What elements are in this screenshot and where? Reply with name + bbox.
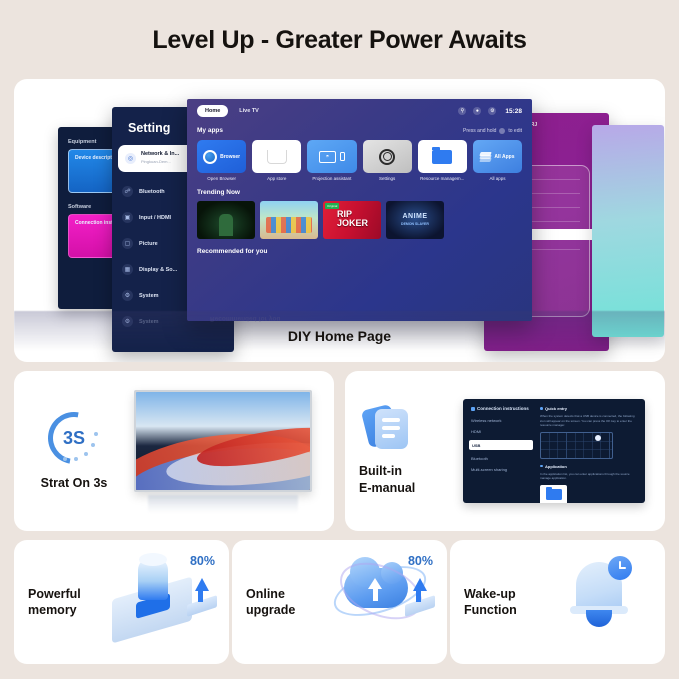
tv-home-screen: Home Live TV ⚲ ● ⚙ 15:28 My apps Press a… xyxy=(187,99,532,321)
tab-live-tv[interactable]: Live TV xyxy=(239,108,259,114)
recommended-title: Recommended for you xyxy=(187,239,532,255)
app-open-browser[interactable]: Browser Open Browser xyxy=(197,140,246,181)
usb-indicator-icon xyxy=(595,435,601,441)
input-icon: ▣ xyxy=(122,212,133,223)
banner-title: ANIME xyxy=(386,213,444,220)
device-stage: Equipment Device description Software Co… xyxy=(14,79,665,311)
my-apps-header: My apps Press and hold to edit xyxy=(187,123,532,134)
app-label: Open Browser xyxy=(197,176,246,181)
screen-cast-icon: ◓ xyxy=(319,151,336,163)
powerful-memory-card: Powerful memory 80% xyxy=(14,540,229,664)
app-resource-management[interactable]: Resource managem... xyxy=(418,140,467,181)
upgrade-illustration: 80% xyxy=(324,540,447,664)
manual-grid-illustration xyxy=(540,432,613,459)
product-feature-page: Level Up - Greater Power Awaits Equipmen… xyxy=(0,0,679,679)
wake-up-function-card: Wake-up Function xyxy=(450,540,665,664)
phone-icon xyxy=(340,152,345,161)
stack-icon xyxy=(480,152,491,162)
banner-subtitle: DEMON SLAYER xyxy=(386,222,444,226)
app-label: Resource managem... xyxy=(418,176,467,181)
browser-tile-text: Browser xyxy=(220,154,240,160)
display-icon: ▦ xyxy=(122,264,133,275)
edit-hint: Press and hold to edit xyxy=(463,128,522,134)
trending-thumb[interactable] xyxy=(197,201,255,239)
tv-reflection xyxy=(148,495,298,513)
folder-icon xyxy=(540,485,567,504)
app-grid: Browser Open Browser App store ◓ xyxy=(187,134,532,181)
manual-menu-item[interactable]: Bluetooth xyxy=(471,456,533,461)
manual-title: Connection instructions xyxy=(471,406,533,411)
app-all-apps[interactable]: All Apps All apps xyxy=(473,140,522,181)
trending-title: Trending Now xyxy=(197,189,522,196)
built-in-emanual-card: Built-in E-manual Connection instruction… xyxy=(345,371,665,531)
app-projection-assistant[interactable]: ◓ Projection assistant xyxy=(307,140,356,181)
manual-section-body: When the system detects that a USB devic… xyxy=(540,414,637,428)
system-icon: ⚙ xyxy=(122,290,133,301)
hero-card: Equipment Device description Software Co… xyxy=(14,79,665,362)
three-second-label: 3S xyxy=(48,412,100,464)
trending-thumb[interactable] xyxy=(260,201,318,239)
wifi-icon[interactable]: ● xyxy=(473,107,481,115)
wake-up-label: Wake-up Function xyxy=(450,586,542,619)
manual-section-heading: Quick entry xyxy=(540,406,637,411)
gear-icon xyxy=(379,149,395,165)
memory-illustration: 80% xyxy=(106,540,229,664)
gradient-panel xyxy=(592,125,664,337)
all-apps-tile-text: All Apps xyxy=(494,154,514,160)
powerful-memory-label: Powerful memory xyxy=(14,586,106,619)
tv-topbar: Home Live TV ⚲ ● ⚙ 15:28 xyxy=(187,99,532,123)
page-title: Level Up - Greater Power Awaits xyxy=(0,0,679,55)
start-on-3s-card: 3S Strat On 3s xyxy=(14,371,334,531)
manual-menu-item[interactable]: Multi-screen sharing xyxy=(471,467,533,472)
manual-screen: Connection instructions Wireless network… xyxy=(463,399,645,503)
upgrade-percent: 80% xyxy=(408,554,433,568)
tv-illustration xyxy=(134,390,312,513)
manual-menu-item[interactable]: Wireless network xyxy=(471,418,533,423)
settings-item-network-sub: Pingkuan-Dem... xyxy=(141,159,171,164)
three-second-icon: 3S xyxy=(48,412,100,464)
trending-thumb[interactable]: ANIME DEMON SLAYER xyxy=(386,201,444,239)
wifi-icon: ◎ xyxy=(125,153,136,164)
manual-icon xyxy=(471,407,475,411)
reflection-text: Recommended for you xyxy=(210,315,280,322)
app-label: Settings xyxy=(363,176,412,181)
online-upgrade-card: Online upgrade 80% xyxy=(232,540,447,664)
trending-section: Trending Now Original RIP JOKER ANIME DE… xyxy=(187,181,532,239)
shopping-bag-icon xyxy=(267,150,287,164)
status-time: 15:28 xyxy=(505,108,522,115)
manual-menu-item-selected[interactable]: USB xyxy=(469,440,533,450)
clock-icon xyxy=(608,556,632,580)
app-label: Projection assistant xyxy=(307,176,356,181)
online-upgrade-label: Online upgrade xyxy=(232,586,324,619)
trending-thumb[interactable]: Original RIP JOKER xyxy=(323,201,381,239)
manual-section-body: In the application list, you can enter a… xyxy=(540,472,637,481)
app-settings[interactable]: Settings xyxy=(363,140,412,181)
app-app-store[interactable]: App store xyxy=(252,140,301,181)
search-icon[interactable]: ⚲ xyxy=(458,107,466,115)
folder-icon xyxy=(432,150,452,164)
manual-menu-item[interactable]: HDMI xyxy=(471,429,533,434)
tab-home[interactable]: Home xyxy=(197,105,228,117)
app-label: App store xyxy=(252,176,301,181)
gear-icon[interactable]: ⚙ xyxy=(488,107,496,115)
ok-key-icon xyxy=(499,128,505,134)
start-on-3s-label: Strat On 3s xyxy=(14,476,134,490)
document-icon xyxy=(365,405,411,451)
wake-illustration xyxy=(542,540,665,664)
my-apps-title: My apps xyxy=(197,127,223,134)
trending-list: Original RIP JOKER ANIME DEMON SLAYER xyxy=(197,201,522,239)
globe-icon xyxy=(203,150,217,164)
poster-title: RIP JOKER xyxy=(337,210,381,227)
settings-item-network-label: Network & In... xyxy=(141,151,179,157)
picture-icon: ▢ xyxy=(122,238,133,249)
hero-caption: DIY Home Page xyxy=(14,328,665,344)
app-label: All apps xyxy=(473,176,522,181)
manual-section-heading: Application xyxy=(540,464,637,469)
memory-percent: 80% xyxy=(190,554,215,568)
emanual-label: Built-in E-manual xyxy=(359,463,463,497)
bluetooth-icon: ☍ xyxy=(122,186,133,197)
